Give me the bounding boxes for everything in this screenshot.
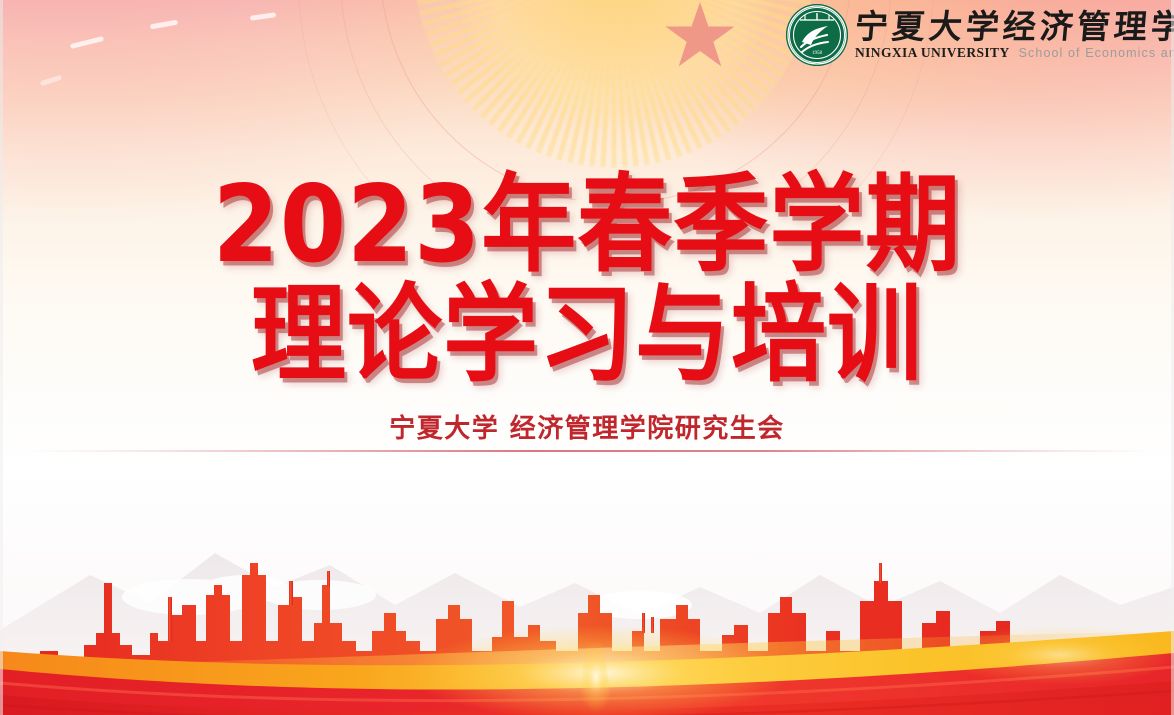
logo-name-en-light: School of Economics and Management	[1019, 46, 1174, 60]
ningxia-university-emblem-icon: 1958	[786, 4, 848, 66]
left-edge	[0, 0, 3, 715]
title-line-2: 理论学习与培训	[0, 278, 1174, 392]
scenery-svg	[0, 455, 1174, 715]
bottom-scenery	[0, 455, 1174, 715]
svg-text:1958: 1958	[812, 51, 823, 56]
presentation-slide: 1958 宁夏大学经济管理学院 NINGXIA UNIVERSITY Schoo…	[0, 0, 1174, 715]
university-logo: 1958 宁夏大学经济管理学院 NINGXIA UNIVERSITY Schoo…	[786, 4, 1174, 66]
decor-dash	[70, 36, 104, 49]
right-light-flare	[940, 625, 1174, 685]
logo-name-cn: 宁夏大学经济管理学院	[853, 9, 1174, 45]
decor-dash	[150, 20, 178, 30]
slide-subtitle: 宁夏大学 经济管理学院研究生会	[0, 408, 1174, 445]
decor-dash	[250, 12, 276, 21]
title-divider	[24, 450, 1152, 452]
logo-name-en-bold: NINGXIA UNIVERSITY	[855, 45, 1010, 61]
decor-dash	[40, 75, 62, 87]
